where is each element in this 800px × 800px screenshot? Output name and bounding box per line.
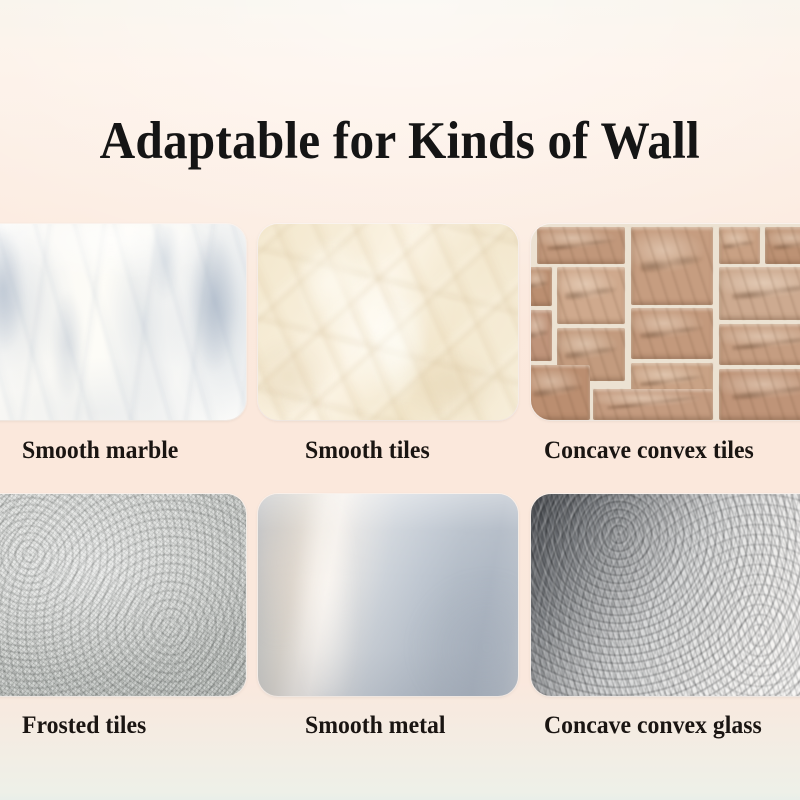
page-title-container: Adaptable for Kinds of Wall (0, 78, 800, 205)
swatch-label-smooth-tiles: Smooth tiles (305, 437, 430, 465)
swatch-cell-concave-convex-tiles[interactable] (531, 224, 800, 420)
page-title: Adaptable for Kinds of Wall (100, 114, 700, 170)
swatch-label-frosted-tiles: Frosted tiles (22, 712, 146, 740)
texture-stone-patchwork (531, 224, 800, 420)
swatch-label-concave-convex-tiles: Concave convex tiles (544, 437, 754, 465)
swatch-image-frosted-tiles (0, 494, 246, 696)
swatch-image-smooth-metal (258, 494, 518, 696)
stone-brick (719, 324, 800, 365)
stone-brick (719, 227, 760, 264)
stone-brick (531, 310, 552, 361)
swatch-cell-smooth-marble[interactable] (0, 224, 246, 420)
stone-brick (593, 389, 713, 420)
texture-brushed-metal (258, 494, 518, 696)
stone-brick (719, 369, 800, 420)
texture-white-marble (0, 224, 246, 420)
swatch-image-smooth-marble (0, 224, 246, 420)
stone-brick (531, 267, 552, 306)
promo-page: Adaptable for Kinds of Wall (0, 0, 800, 800)
swatch-label-concave-convex-glass: Concave convex glass (544, 712, 762, 740)
texture-frosted-granular (0, 494, 246, 696)
swatch-cell-concave-convex-glass[interactable] (531, 494, 800, 696)
swatch-image-smooth-tiles (258, 224, 518, 420)
stone-brick (537, 227, 625, 264)
stone-brick (557, 267, 624, 324)
swatch-label-smooth-metal: Smooth metal (305, 712, 446, 740)
swatch-image-concave-convex-tiles (531, 224, 800, 420)
stone-brick (719, 267, 800, 320)
swatch-image-concave-convex-glass (531, 494, 800, 696)
swatch-label-smooth-marble: Smooth marble (22, 437, 178, 465)
stone-brick (631, 227, 713, 305)
stone-brick (765, 227, 800, 264)
texture-beige-marble (258, 224, 518, 420)
swatch-cell-smooth-tiles[interactable] (258, 224, 518, 420)
stone-brick (531, 365, 590, 420)
texture-textured-glass (531, 494, 800, 696)
stone-brick (631, 308, 713, 359)
swatch-cell-smooth-metal[interactable] (258, 494, 518, 696)
swatch-cell-frosted-tiles[interactable] (0, 494, 246, 696)
